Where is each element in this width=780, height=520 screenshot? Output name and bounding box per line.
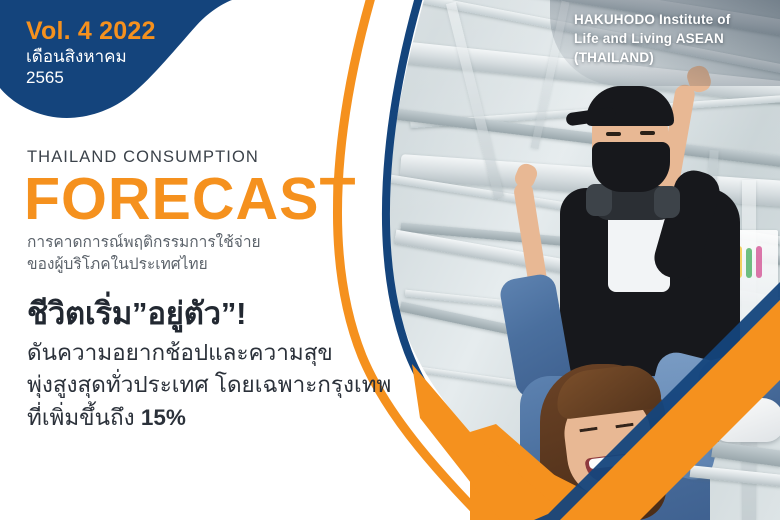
- message-line-2: ดันความอยากช้อปและความสุข: [27, 337, 422, 370]
- message-line-1: ชีวิตเริ่ม”อยู่ตัว”!: [27, 296, 422, 333]
- headline-title: FORECAST: [24, 171, 357, 228]
- brand-line-3: (THAILAND): [574, 48, 764, 67]
- volume-badge: Vol. 4 2022 เดือนสิงหาคม 2565: [26, 17, 156, 87]
- message-line-3: พุ่งสูงสุดทั่วประเทศ โดยเฉพาะกรุงเทพ: [27, 369, 422, 402]
- message-percentage: 15%: [141, 405, 186, 430]
- volume-month: เดือนสิงหาคม: [26, 47, 156, 66]
- brand-line-1: HAKUHODO Institute of: [574, 10, 764, 29]
- headline-subtitle-1: การคาดการณ์พฤติกรรมการใช้จ่าย: [27, 232, 357, 254]
- poster-canvas: Vol. 4 2022 เดือนสิงหาคม 2565 HAKUHODO I…: [0, 0, 780, 520]
- headline-kicker: THAILAND CONSUMPTION: [27, 148, 357, 167]
- volume-year: 2565: [26, 68, 156, 87]
- message-line-4: ที่เพิ่มขึ้นถึง 15%: [27, 402, 422, 435]
- volume-title: Vol. 4 2022: [26, 17, 156, 45]
- message-line-4-prefix: ที่เพิ่มขึ้นถึง: [27, 405, 141, 430]
- brand-line-2: Life and Living ASEAN: [574, 29, 764, 48]
- brand-credit: HAKUHODO Institute of Life and Living AS…: [574, 10, 764, 67]
- message-block: ชีวิตเริ่ม”อยู่ตัว”! ดันความอยากช้อปและค…: [27, 296, 422, 434]
- headline-subtitle-2: ของผู้บริโภคในประเทศไทย: [27, 254, 357, 276]
- headline-block: THAILAND CONSUMPTION FORECAST การคาดการณ…: [27, 148, 357, 277]
